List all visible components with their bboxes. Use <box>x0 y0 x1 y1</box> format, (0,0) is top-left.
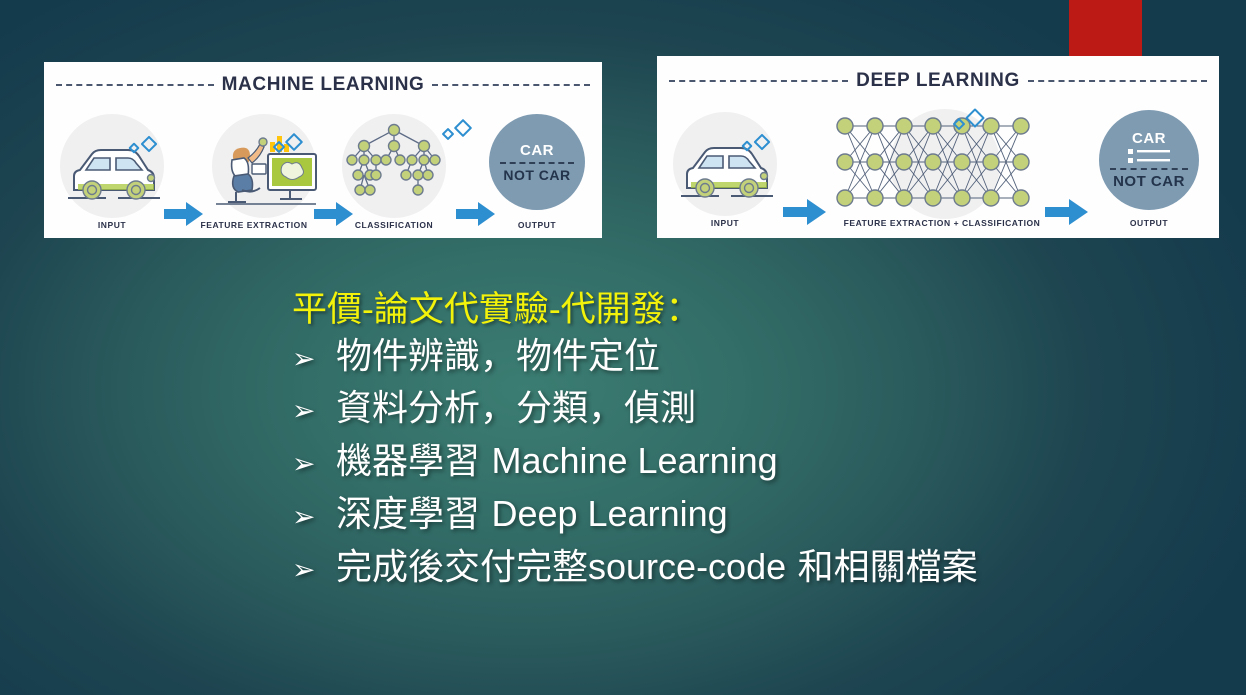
ml-title-row: MACHINE LEARNING <box>44 74 602 96</box>
dashed-rule-left <box>56 84 214 86</box>
list-item-label-cjk: 深度學習 <box>336 494 491 535</box>
list-item-label-latin: source-code <box>588 546 786 587</box>
list-item-label: 機器學習 Machine Learning <box>336 436 778 487</box>
red-accent-block <box>1069 0 1142 63</box>
ml-stage-label-3: CLASSIFICATION <box>355 220 433 230</box>
ml-arrow-1 <box>164 201 204 227</box>
list-item-label-cjk: 機器學習 <box>336 441 491 482</box>
dashed-rule-right <box>432 84 590 86</box>
dl-arrow-2 <box>1045 198 1089 226</box>
ml-output-circle: CAR NOT CAR <box>489 114 585 210</box>
arrow-bullet-icon: ➢ <box>292 334 336 384</box>
slide-text-block: 平價-論文代實驗-代開發： ➢ 物件辨識，物件定位 ➢ 資料分析，分類，偵測 ➢… <box>292 288 1192 595</box>
dashed-rule-right <box>1028 80 1207 82</box>
list-item-label-latin: Machine Learning <box>491 440 777 481</box>
dl-output-top-label: CAR <box>1132 130 1166 147</box>
list-item-label: 物件辨識，物件定位 <box>336 332 660 382</box>
dashed-rule-left <box>669 80 848 82</box>
list-item-label-cjk-tail: 和相關檔案 <box>786 547 977 588</box>
arrow-bullet-icon: ➢ <box>292 545 336 595</box>
ml-output-bottom-label: NOT CAR <box>503 167 570 183</box>
ml-stage-label-2: FEATURE EXTRACTION <box>200 220 307 230</box>
diagram-machine-learning: MACHINE LEARNING INPUT <box>44 62 602 238</box>
list-item-label: 資料分析，分類，偵測 <box>336 384 696 434</box>
list-item: ➢ 深度學習 Deep Learning <box>292 489 1192 542</box>
diagram-deep-learning: DEEP LEARNING INPUT <box>657 56 1219 238</box>
list-item: ➢ 資料分析，分類，偵測 <box>292 384 1192 436</box>
list-item-label: 深度學習 Deep Learning <box>336 489 728 540</box>
dl-stage-label-2: FEATURE EXTRACTION + CLASSIFICATION <box>844 218 1041 228</box>
dl-output-circle: CAR NOT CAR <box>1099 110 1199 210</box>
ml-title: MACHINE LEARNING <box>222 74 425 96</box>
ml-output-top-label: CAR <box>520 142 554 159</box>
ml-decision-tree-icon: svg circle{fill:#c3d17a;stroke:#6d7b8e;s… <box>342 120 446 214</box>
arrow-bullet-icon: ➢ <box>292 386 336 436</box>
list-item: ➢ 完成後交付完整source-code 和相關檔案 <box>292 542 1192 595</box>
list-item-label-cjk: 完成後交付完整 <box>336 547 588 588</box>
dl-arrow-1 <box>783 198 827 226</box>
page-title: 平價-論文代實驗-代開發： <box>292 288 1192 332</box>
ml-stage-label-4: OUTPUT <box>518 220 556 230</box>
dl-title-row: DEEP LEARNING <box>657 70 1219 92</box>
ml-sparkle-6 <box>454 119 472 137</box>
dl-title: DEEP LEARNING <box>856 70 1020 92</box>
arrow-bullet-icon: ➢ <box>292 492 336 542</box>
dl-stage-label-3: OUTPUT <box>1130 218 1168 228</box>
dl-output-bottom-label: NOT CAR <box>1113 173 1185 190</box>
dl-neural-network-icon <box>833 112 1033 222</box>
list-item: ➢ 機器學習 Machine Learning <box>292 436 1192 489</box>
arrow-bullet-icon: ➢ <box>292 439 336 489</box>
dl-stage-label-1: INPUT <box>711 218 739 228</box>
ml-output-divider <box>500 162 575 164</box>
ml-arrow-3 <box>456 201 496 227</box>
dl-output-list-icon <box>1126 148 1172 165</box>
ml-feature-extraction-icon <box>212 132 320 210</box>
ml-stage-label-1: INPUT <box>98 220 126 230</box>
slide-canvas: MACHINE LEARNING INPUT <box>0 0 1246 695</box>
list-item: ➢ 物件辨識，物件定位 <box>292 332 1192 384</box>
list-item-label-latin: Deep Learning <box>491 493 727 534</box>
list-item-label: 完成後交付完整source-code 和相關檔案 <box>336 542 978 593</box>
dl-output-divider <box>1110 168 1188 170</box>
